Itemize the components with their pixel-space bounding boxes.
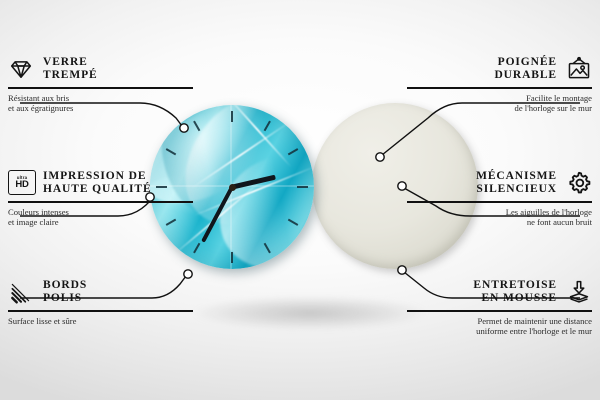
feature-title: ENTRETOISE EN MOUSSE [473, 279, 557, 305]
feature-description: Les aiguilles de l'horloge ne font aucun… [407, 207, 592, 228]
feature-divider [8, 87, 193, 89]
feature-poignee-durable[interactable]: POIGNÉE DURABLE Facilite le montage de l… [407, 56, 592, 114]
diamond-icon [8, 56, 34, 82]
feature-description: Facilite le montage de l'horloge sur le … [407, 93, 592, 114]
feature-divider [8, 201, 193, 203]
feature-description: Couleurs intenses et image claire [8, 207, 193, 228]
feature-divider [407, 201, 592, 203]
callout-dot-bords [184, 270, 192, 278]
hanging-picture-frame-icon [566, 56, 592, 82]
feature-entretoise-en-mousse[interactable]: ENTRETOISE EN MOUSSE Permet de maintenir… [407, 279, 592, 337]
clock-tick [231, 111, 233, 122]
feature-description: Permet de maintenir une distance uniform… [407, 316, 592, 337]
feature-description: Résistant aux bris et aux égratignures [8, 93, 193, 114]
clock-tick [231, 252, 233, 263]
arrow-onto-layers-icon [566, 279, 592, 305]
feature-impression-haute-qualite[interactable]: ultra HD IMPRESSION DE HAUTE QUALITÉ Cou… [8, 170, 193, 228]
feature-divider [407, 87, 592, 89]
gear-icon [566, 170, 592, 196]
hd-label: HD [15, 180, 28, 190]
feature-bords-polis[interactable]: BORDS POLIS Surface lisse et sûre [8, 279, 193, 326]
feature-title: POIGNÉE DURABLE [494, 56, 557, 82]
feature-verre-trempe[interactable]: VERRE TREMPÉ Résistant aux bris et aux é… [8, 56, 193, 114]
feature-title: VERRE TREMPÉ [43, 56, 98, 82]
feature-mecanisme-silencieux[interactable]: MÉCANISME SILENCIEUX Les aiguilles de l'… [407, 170, 592, 228]
feature-divider [8, 310, 193, 312]
feature-description: Surface lisse et sûre [8, 316, 193, 327]
feature-title: BORDS POLIS [43, 279, 87, 305]
clock-center-cap [229, 184, 236, 191]
ultra-hd-badge-icon: ultra HD [8, 170, 34, 196]
infographic-canvas: VERRE TREMPÉ Résistant aux bris et aux é… [0, 0, 600, 400]
feature-title: MÉCANISME SILENCIEUX [476, 170, 557, 196]
feature-title: IMPRESSION DE HAUTE QUALITÉ [43, 170, 152, 196]
polished-edge-lines-icon [8, 279, 34, 305]
clock-tick [297, 186, 308, 188]
feature-divider [407, 310, 592, 312]
